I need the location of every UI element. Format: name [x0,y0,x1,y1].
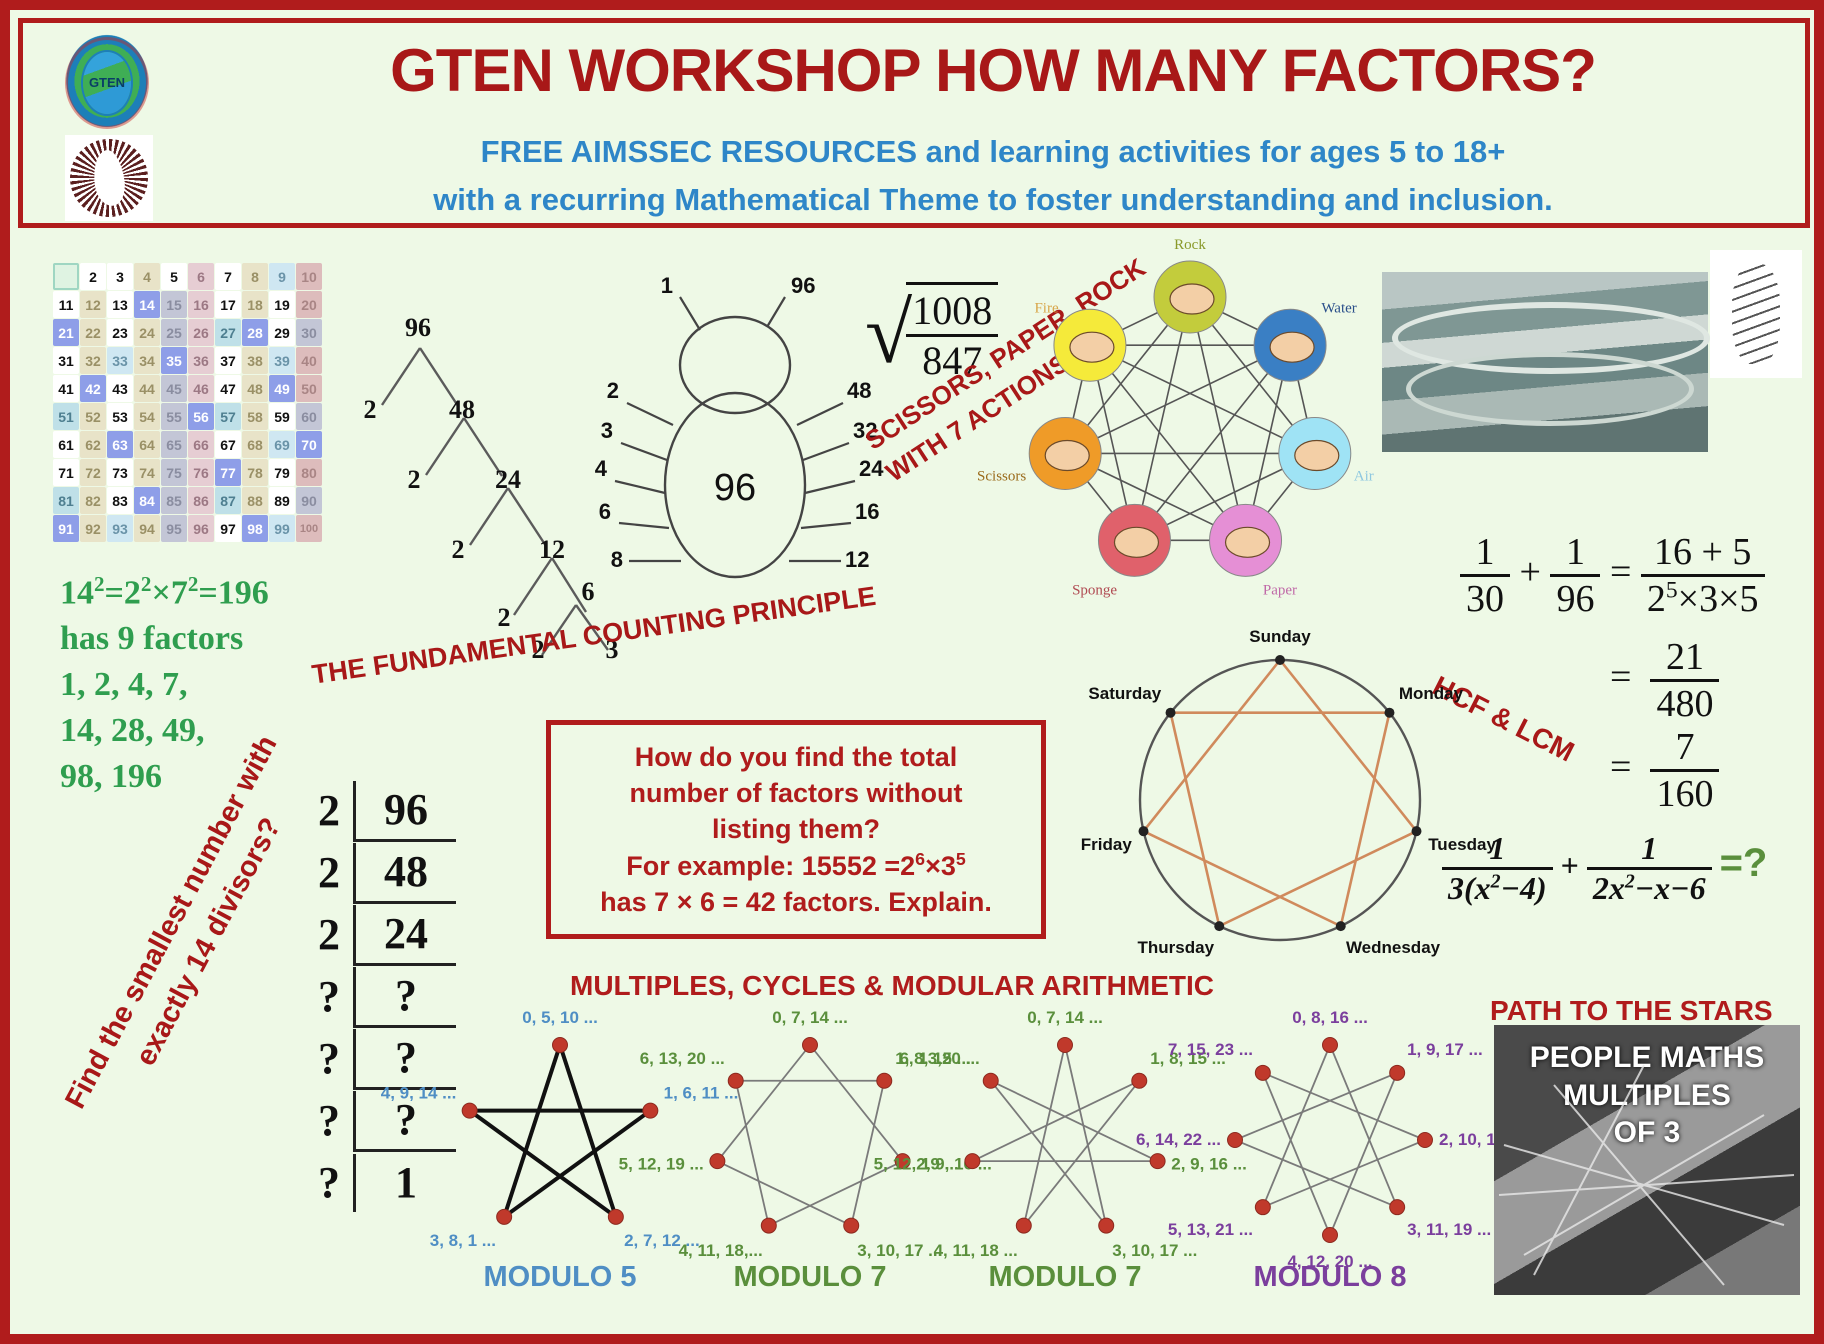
week-label: Friday [1081,835,1133,854]
ladder-divisor[interactable]: ? [305,1099,353,1143]
modulo-node[interactable] [1228,1133,1243,1148]
hundred-square-cell[interactable]: 94 [134,515,160,542]
modulo-residue-label: 0, 8, 16 ... [1292,1008,1368,1027]
alg-f2-den: 2x2−x−6 [1587,867,1712,907]
hcf-e3-num: 7 [1650,725,1719,769]
hcf-f2-den: 96 [1550,574,1600,621]
hundred-square-cell[interactable]: 38 [242,347,268,374]
hundred-square-cell[interactable]: 49 [269,375,295,402]
hundred-square-cell[interactable]: 56 [188,403,214,430]
week-node[interactable] [1384,708,1394,718]
modulo-title: MODULO 7 [733,1261,886,1293]
modulo-node[interactable] [1323,1038,1338,1053]
hundred-square-cell[interactable]: 29 [269,319,295,346]
hundred-square-cell[interactable]: 72 [80,459,106,486]
hcf-f1-den: 30 [1460,574,1510,621]
caption-path-to-the-stars: PATH TO THE STARS [1490,995,1773,1027]
modulo-residue-label: 6, 13,20 ... [899,1049,979,1068]
hcf-f1-num: 1 [1460,530,1510,574]
factor-tree-node: 48 [449,395,475,424]
hundred-square-cell[interactable]: 32 [80,347,106,374]
week-edge [1144,660,1280,831]
modulo-node[interactable] [844,1218,859,1233]
hundred-square-cell[interactable]: 18 [242,291,268,318]
hcf-plus: + [1520,551,1541,593]
hundred-square-cell[interactable]: 27 [215,319,241,346]
poster-canvas: GTEN GTEN WORKSHOP HOW MANY FACTORS? FRE… [0,0,1824,1344]
hundred-square-cell[interactable]: 16 [188,291,214,318]
spider-centre-value: 96 [714,467,756,509]
architecture-photo [1382,272,1708,452]
hcf-f3-den-base: 2 [1647,578,1666,620]
hundred-square-cell[interactable]: 33 [107,347,133,374]
hand-icon [1170,284,1214,314]
ladder-divisor[interactable]: 2 [305,789,353,833]
modulo-residue-label: 7, 15, 23 ... [1168,1040,1253,1059]
modulo-residue-label: 5, 12, 19 ... [874,1154,959,1173]
spider-factor-label: 2 [607,378,619,403]
hundred-square-cell[interactable]: 21 [53,319,79,346]
week-label: Tuesday [1428,835,1496,854]
hundred-square-cell[interactable]: 31 [53,347,79,374]
hundred-square-cell[interactable]: 82 [80,487,106,514]
hundred-square-cell[interactable]: 6 [188,263,214,290]
hundred-square-row: 21222324252627282930 [53,319,322,346]
modulo-residue-label: 4, 11, 18 ... [934,1241,1018,1260]
ladder-row: 296 [305,780,465,842]
hundred-square-cell[interactable]: 50 [296,375,322,402]
hand-icon [1114,527,1158,557]
ladder-value[interactable]: 48 [353,843,456,904]
spider-factor-label: 4 [595,456,608,481]
hundred-square-cell[interactable]: 91 [53,515,79,542]
hundred-square-cell[interactable]: 13 [107,291,133,318]
hcf-lcm-equation-2: = 21480 [1610,635,1719,726]
gten-logo-label: GTEN [61,75,153,90]
hundred-square-cell[interactable]: 25 [161,319,187,346]
hundred-square-cell[interactable]: 89 [269,487,295,514]
hundred-square-cell[interactable]: 61 [53,431,79,458]
factor-tree-node: 12 [539,535,565,564]
spider-factor-label: 3 [601,418,613,443]
ladder-row: 248 [305,842,465,904]
hundred-square-row: 31323334353637383940 [53,347,322,374]
modulo-node[interactable] [803,1038,818,1053]
hundred-square-cell[interactable]: 4 [134,263,160,290]
factor-tree-node: 2 [364,395,377,424]
hundred-square-cell[interactable]: 2 [80,263,106,290]
modulo-node[interactable] [983,1073,998,1088]
modulo-node[interactable] [1323,1228,1338,1243]
hundred-square-cell[interactable]: 40 [296,347,322,374]
modulo-residue-label: 0, 5, 10 ... [522,1008,598,1027]
spider-factor-label: 8 [611,547,623,572]
hundred-square-cell[interactable]: 17 [215,291,241,318]
hundred-square-cell[interactable]: 62 [80,431,106,458]
hcf-equals-1: = [1610,551,1631,593]
week-label: Sunday [1249,627,1311,646]
hundred-square-cell[interactable]: 37 [215,347,241,374]
modulo-residue-label: 4, 11, 18,... [679,1241,763,1260]
spider-factor-label: 12 [845,547,869,572]
hundred-square-cell[interactable]: 48 [242,375,268,402]
modulo-star-edges [717,1045,902,1226]
hundred-square-cell[interactable]: 100 [296,515,322,542]
ladder-divisor[interactable]: ? [305,1037,353,1081]
header-subtitle-2: with a recurring Mathematical Theme to f… [203,181,1783,218]
hundred-square-cell[interactable]: 51 [53,403,79,430]
hundred-square-cell[interactable]: 19 [269,291,295,318]
spider-factor-label: 96 [791,273,815,298]
modulo-residue-label: 0, 7, 14 ... [772,1008,848,1027]
alg-f1-den-exp: 2 [1491,870,1501,892]
hundred-square-row: 2345678910 [53,263,322,290]
week-label: Saturday [1088,684,1161,703]
modulo-residue-label: 3, 11, 19 ... [1407,1220,1491,1239]
modulo-7-star-diagram-a: 0, 7, 14 ...1, 8, 15 ...2, 9, 16 ...3, 1… [680,1000,940,1300]
hcf-e2-den: 480 [1650,679,1719,726]
hundred-square-row: 61626364656667686970 [53,431,322,458]
hcf-equals-2: = [1610,656,1631,698]
hundred-square-cell-blank[interactable] [53,263,79,290]
modulo-residue-label: 1, 9, 17 ... [1407,1040,1483,1059]
modulo-8-star-diagram: 0, 8, 16 ...1, 9, 17 ...2, 10, 18 ...3, … [1190,1000,1470,1300]
surd-numerator: 1008 [906,287,998,334]
hundred-square-cell[interactable]: 7 [215,263,241,290]
q-l5a: has 7 [600,887,677,917]
modulo-residue-label: 4, 9, 14 ... [381,1083,457,1102]
modulo-node[interactable] [497,1209,512,1224]
modulo-node[interactable] [1418,1133,1433,1148]
spider-factor-label: 16 [855,499,879,524]
q-l4b: ×3 [925,851,956,881]
hcf-equals-3: = [1610,746,1631,788]
week-cycle-diagram: SundayMondayTuesdayWednesdayThursdayFrid… [1080,640,1480,970]
factor-tree-node: 2 [452,535,465,564]
rps-edge [1134,297,1190,540]
hundred-square-cell[interactable]: 81 [53,487,79,514]
factor-tree-node: 96 [405,313,431,342]
hundred-square-cell[interactable]: 71 [53,459,79,486]
hundred-square-cell[interactable]: 63 [107,431,133,458]
f-14: 14 [60,574,94,611]
hundred-square-cell[interactable]: 3 [107,263,133,290]
hundred-square-cell[interactable]: 99 [269,515,295,542]
modulo-node[interactable] [761,1218,776,1233]
alg-f2-den-exp: 2 [1625,870,1635,892]
hundred-square-cell[interactable]: 78 [242,459,268,486]
hundred-square-cell[interactable]: 88 [242,487,268,514]
modulo-residue-label: 3, 8, 1 ... [430,1231,496,1250]
hundred-square-row: 51525354555657585960 [53,403,322,430]
modulo-node[interactable] [1058,1038,1073,1053]
week-edge [1280,660,1416,831]
week-label: Thursday [1138,938,1215,957]
hundred-square-cell[interactable]: 90 [296,487,322,514]
f-eq2: =2 [105,574,141,611]
week-node[interactable] [1214,921,1224,931]
q-l4a: For example: 15552 =2 [626,851,915,881]
hundred-square-cell[interactable]: 77 [215,459,241,486]
hcf-lcm-equation-3: = 7160 [1610,725,1719,816]
alg-f2-num: 1 [1587,830,1712,867]
modulo-5-star-diagram: 0, 5, 10 ...1, 6, 11 ...2, 7, 12 ...3, 8… [430,1000,690,1300]
f-x7: ×7 [151,574,187,611]
hcf-f3-den: 25×3×5 [1641,574,1765,621]
hundred-square-cell[interactable]: 93 [107,515,133,542]
alg-f2-den-a: 2x [1593,870,1625,906]
q-exp1: 6 [915,849,925,869]
hand-icon [1226,527,1270,557]
hundred-square-cell[interactable]: 68 [242,431,268,458]
week-label: Wednesday [1346,938,1441,957]
hundred-square-cell[interactable]: 53 [107,403,133,430]
modulo-title: MODULO 5 [483,1261,636,1293]
hundred-square-cell[interactable]: 79 [269,459,295,486]
hcf-f2-num: 1 [1550,530,1600,574]
week-node[interactable] [1336,921,1346,931]
hundred-square-cell[interactable]: 11 [53,291,79,318]
hundred-square-cell[interactable]: 85 [161,487,187,514]
gten-logo-icon: GTEN [61,33,153,133]
hundred-square-cell[interactable]: 45 [161,375,187,402]
modulo-residue-label: 5, 12, 19 ... [619,1154,704,1173]
hundred-square-cell[interactable]: 34 [134,347,160,374]
modulo-7-star-diagram-b: 0, 7, 14 ...1, 8, 15 ...2, 9, 16 ...3, 1… [935,1000,1195,1300]
hundred-square-cell[interactable]: 46 [188,375,214,402]
week-edge [1219,831,1416,926]
hundred-square-cell[interactable]: 22 [80,319,106,346]
alg-f1-den-b: −4) [1501,870,1547,906]
hundred-square-cell[interactable]: 98 [242,515,268,542]
week-label: Monday [1399,684,1464,703]
hundred-square-cell[interactable]: 5 [161,263,187,290]
hand-icon [1270,332,1314,362]
hundred-square-table: 2345678910111213141516171819202122232425… [52,262,323,543]
modulo-residue-label: 3, 10, 17 ... [1112,1241,1197,1260]
header-subtitle-1: FREE AIMSSEC RESOURCES and learning acti… [203,133,1783,170]
week-node[interactable] [1166,708,1176,718]
hundred-square-cell[interactable]: 52 [80,403,106,430]
hundred-square-cell[interactable]: 24 [134,319,160,346]
hundred-square-cell[interactable]: 95 [161,515,187,542]
hundred-square-cell[interactable]: 44 [134,375,160,402]
f-196: =196 [198,574,268,611]
hundred-square-cell[interactable]: 14 [134,291,160,318]
hundred-square-cell[interactable]: 73 [107,459,133,486]
hundred-square-cell[interactable]: 10 [296,263,322,290]
page-title: GTEN WORKSHOP HOW MANY FACTORS? [203,39,1783,102]
hundred-square-cell[interactable]: 54 [134,403,160,430]
modulo-residue-label: 6, 13, 20 ... [640,1049,725,1068]
hundred-square-cell[interactable]: 39 [269,347,295,374]
ladder-value[interactable]: 96 [353,781,456,842]
ladder-divisor[interactable]: 2 [305,851,353,895]
modulo-star-edges [470,1045,651,1217]
hand-icon [1295,440,1339,470]
hundred-square-row: 919293949596979899100 [53,515,322,542]
question-line-3: listing them? [561,811,1031,847]
week-node[interactable] [1275,655,1285,665]
hcf-f3-num: 16 + 5 [1641,530,1765,574]
question-box: How do you find the total number of fact… [546,720,1046,939]
rps-label: Rock [1174,237,1206,253]
hundred-square-cell[interactable]: 43 [107,375,133,402]
modulo-title: MODULO 8 [1253,1261,1406,1293]
modulo-node[interactable] [710,1154,725,1169]
modulo-node[interactable] [608,1209,623,1224]
alg-plus: + [1561,847,1579,883]
rps-edge [1190,297,1246,540]
hundred-square-row: 71727374757677787980 [53,459,322,486]
hundred-square-cell[interactable]: 84 [134,487,160,514]
modulo-residue-label: 0, 7, 14 ... [1027,1008,1103,1027]
hundred-square-cell[interactable]: 86 [188,487,214,514]
hundred-square-cell[interactable]: 70 [296,431,322,458]
hundred-square-cell[interactable]: 30 [296,319,322,346]
hcf-e3-den: 160 [1650,769,1719,816]
modulo-residue-label: 6, 14, 22 ... [1136,1130,1221,1149]
hundred-square-cell[interactable]: 42 [80,375,106,402]
question-line-4: For example: 15552 =26×35 [561,848,1031,884]
modulo-title: MODULO 7 [988,1261,1141,1293]
hcf-lcm-equation-1: 130 + 196 = 16 + 525×3×5 [1460,530,1765,621]
hundred-square-cell[interactable]: 83 [107,487,133,514]
modulo-node[interactable] [643,1103,658,1118]
hundred-square-cell[interactable]: 67 [215,431,241,458]
modulo-node[interactable] [1150,1154,1165,1169]
hundred-square-cell[interactable]: 87 [215,487,241,514]
hundred-square-cell[interactable]: 41 [53,375,79,402]
alg-f2-den-b: −x−6 [1635,870,1706,906]
hundred-square-cell[interactable]: 58 [242,403,268,430]
hand-icon [1070,332,1114,362]
hand-icon [1045,440,1089,470]
hundred-square-cell[interactable]: 66 [188,431,214,458]
hundred-square-cell[interactable]: 64 [134,431,160,458]
people-maths-photo: PEOPLE MATHS MULTIPLES OF 3 [1494,1025,1800,1295]
hundred-square-cell[interactable]: 96 [188,515,214,542]
week-node[interactable] [1411,826,1421,836]
factors-note-line-4: 14, 28, 49, [60,708,410,754]
factor-tree-node: 2 [408,465,421,494]
modulo-node[interactable] [965,1154,980,1169]
modulo-star-edges [972,1045,1157,1226]
rps-label: Fire [1034,300,1059,316]
week-node[interactable] [1139,826,1149,836]
hundred-square-cell[interactable]: 12 [80,291,106,318]
question-line-1: How do you find the total [561,739,1031,775]
modulo-node[interactable] [553,1038,568,1053]
hundred-square-cell[interactable]: 28 [242,319,268,346]
factor-tree-node: 2 [498,603,511,632]
hundred-square-cell[interactable]: 60 [296,403,322,430]
hcf-f3-den-exp: 5 [1666,577,1678,603]
hundred-square-row: 81828384858687888990 [53,487,322,514]
modulo-node[interactable] [877,1073,892,1088]
hundred-square-cell[interactable]: 92 [80,515,106,542]
ladder-value[interactable]: 24 [353,905,456,966]
hundred-square-cell[interactable]: 9 [269,263,295,290]
poster-header: GTEN GTEN WORKSHOP HOW MANY FACTORS? FRE… [18,18,1810,228]
modulo-node[interactable] [1099,1218,1114,1233]
hcf-e2-num: 21 [1650,635,1719,679]
hundred-square-row: 41424344454647484950 [53,375,322,402]
hundred-square-cell[interactable]: 69 [269,431,295,458]
hundred-square-cell[interactable]: 35 [161,347,187,374]
hundred-square-cell[interactable]: 26 [188,319,214,346]
aimssec-logo-icon [65,135,153,221]
ladder-row: 224 [305,904,465,966]
ladder-divisor[interactable]: 2 [305,913,353,957]
factor-spider-diagram: 96 123468964832241612 [585,285,885,595]
hundred-square-cell[interactable]: 76 [188,459,214,486]
hundred-square-cell[interactable]: 59 [269,403,295,430]
modulo-node[interactable] [1132,1073,1147,1088]
rps7-network-diagram: RockWaterAirPaperSpongeScissorsFire [1020,260,1360,590]
alg-equals-question: =? [1720,841,1768,885]
hundred-square: 2345678910111213141516171819202122232425… [52,262,323,543]
modulo-node[interactable] [728,1073,743,1088]
hcf-f3-den-rest: ×3×5 [1678,578,1759,620]
q-exp2: 5 [956,849,966,869]
week-edge [1144,831,1341,926]
modulo-node[interactable] [1255,1065,1270,1080]
hundred-square-cell[interactable]: 15 [161,291,187,318]
rps-label: Scissors [977,468,1026,484]
ladder-divisor[interactable]: ? [305,1161,353,1205]
modulo-residue-label: 5, 13, 21 ... [1168,1220,1253,1239]
ladder-divisor[interactable]: ? [305,975,353,1019]
rps-label: Air [1354,468,1374,484]
modulo-node[interactable] [1016,1218,1031,1233]
hundred-square-cell[interactable]: 20 [296,291,322,318]
hundred-square-cell[interactable]: 23 [107,319,133,346]
hundred-square-cell[interactable]: 80 [296,459,322,486]
hundred-square-cell[interactable]: 74 [134,459,160,486]
spider-factor-label: 1 [661,273,673,298]
people-string-lines [1494,1025,1800,1295]
hundred-square-cell[interactable]: 36 [188,347,214,374]
modulo-node[interactable] [1390,1200,1405,1215]
rps-label: Water [1321,300,1356,316]
hundred-square-cell[interactable]: 8 [242,263,268,290]
rps-label: Sponge [1072,582,1117,598]
hundred-square-cell[interactable]: 75 [161,459,187,486]
question-line-2: number of factors without [561,775,1031,811]
spiral-sculpture-photo [1710,250,1802,378]
q-l5b: × 6 = 42 factors. Explain. [677,887,992,917]
modulo-node[interactable] [1390,1065,1405,1080]
modulo-residue-label: 3, 10, 17 ... [857,1241,942,1260]
hundred-square-cell[interactable]: 65 [161,431,187,458]
question-line-5: has 7 × 6 = 42 factors. Explain. [561,884,1031,920]
rps-label: Paper [1263,582,1297,598]
spider-factor-label: 6 [599,499,611,524]
hundred-square-cell[interactable]: 57 [215,403,241,430]
modulo-node[interactable] [1255,1200,1270,1215]
radical-sign: √ [865,303,912,363]
spiral-shape [1732,264,1780,364]
caption-multiples-cycles-modular: MULTIPLES, CYCLES & MODULAR ARITHMETIC [570,970,1214,1002]
hundred-square-cell[interactable]: 55 [161,403,187,430]
hundred-square-cell[interactable]: 47 [215,375,241,402]
modulo-node[interactable] [462,1103,477,1118]
hundred-square-cell[interactable]: 97 [215,515,241,542]
arch-ring-inner [1406,352,1694,426]
hundred-square-row: 11121314151617181920 [53,291,322,318]
factor-tree-node: 24 [495,465,521,494]
